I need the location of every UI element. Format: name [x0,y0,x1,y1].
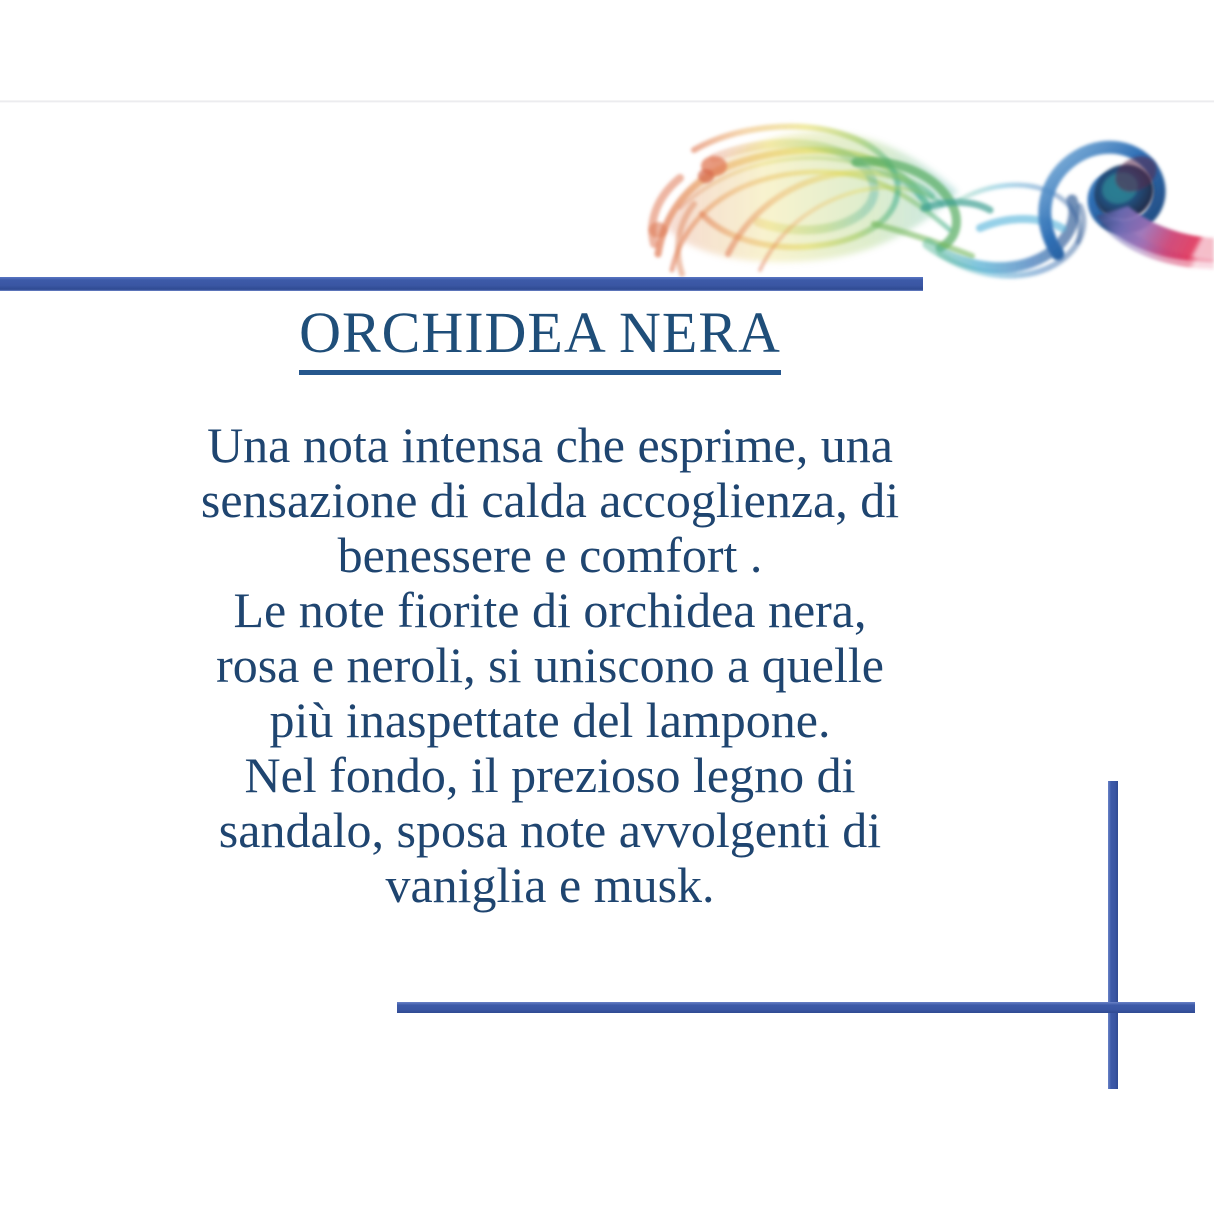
body-line: rosa e neroli, si uniscono a quelle [96,638,1004,693]
top-hairline-divider [0,100,1214,103]
rainbow-smoke-artwork [628,104,1214,284]
page-title-text: ORCHIDEA NERA [299,303,781,375]
decorative-vertical-rule [1108,781,1118,1089]
banner-blue-rule [0,277,923,291]
body-line: Nel fondo, il prezioso legno di [96,748,1004,803]
page-title: ORCHIDEA NERA [0,303,1080,375]
body-line: più inaspettate del lampone. [96,693,1004,748]
body-line: sandalo, sposa note avvolgenti di [96,803,1004,858]
body-line: vaniglia e musk. [96,858,1004,913]
decorative-horizontal-rule [397,1002,1195,1013]
body-line: Le note fiorite di orchidea nera, [96,583,1004,638]
body-copy: Una nota intensa che esprime, una sensaz… [96,418,1004,913]
body-line: benessere e comfort . [96,528,1004,583]
body-line: Una nota intensa che esprime, una [96,418,1004,473]
body-line: sensazione di calda accoglienza, di [96,473,1004,528]
slide-canvas: ORCHIDEA NERA Una nota intensa che espri… [0,0,1214,1214]
